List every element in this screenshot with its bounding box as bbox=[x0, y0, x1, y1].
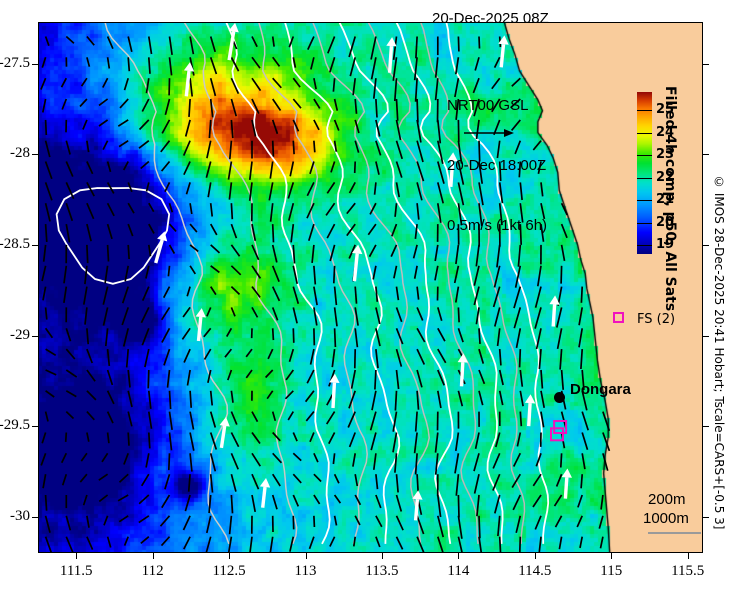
current-vector bbox=[493, 474, 500, 490]
current-vector bbox=[267, 391, 273, 399]
current-vector bbox=[128, 245, 129, 259]
current-vector bbox=[414, 245, 418, 258]
drifter-arrow-head bbox=[196, 308, 206, 317]
colorbar-tick bbox=[637, 155, 652, 156]
current-vector bbox=[149, 412, 152, 429]
current-vector bbox=[376, 328, 380, 346]
current-vector bbox=[42, 266, 46, 281]
velocity-scale-arrow-icon bbox=[462, 125, 522, 141]
y-axis-tick bbox=[32, 154, 38, 155]
current-vector bbox=[162, 328, 170, 342]
current-vector bbox=[326, 203, 335, 215]
current-vector bbox=[103, 141, 108, 150]
current-vector bbox=[231, 245, 239, 256]
current-vector bbox=[579, 328, 582, 347]
current-vector bbox=[477, 495, 479, 516]
current-vector bbox=[64, 287, 66, 303]
x-axis-tick-label: 112.5 bbox=[194, 563, 264, 580]
current-vector bbox=[273, 266, 279, 282]
current-vector bbox=[231, 203, 232, 219]
current-vector bbox=[498, 516, 500, 536]
current-vector bbox=[290, 349, 294, 362]
current-vector bbox=[207, 516, 211, 533]
current-vector bbox=[170, 57, 172, 75]
current-vector bbox=[231, 474, 236, 491]
current-vector bbox=[211, 391, 213, 406]
current-vector bbox=[397, 474, 399, 492]
current-vector bbox=[291, 224, 293, 242]
current-vector bbox=[190, 266, 195, 274]
source-line-3: 0.5m/s (1kt 6h) bbox=[447, 216, 547, 236]
current-vector bbox=[293, 433, 297, 442]
current-vector bbox=[293, 245, 294, 264]
current-vector bbox=[231, 433, 238, 447]
current-vector bbox=[108, 224, 112, 239]
current-vector bbox=[310, 162, 314, 174]
current-vector bbox=[230, 516, 232, 534]
drifter-arrow-shaft bbox=[565, 478, 566, 499]
current-vector bbox=[562, 370, 564, 390]
current-vector bbox=[231, 307, 235, 316]
current-vector bbox=[128, 182, 132, 191]
current-vector bbox=[46, 307, 47, 319]
current-vector bbox=[456, 433, 459, 451]
current-vector bbox=[148, 370, 149, 388]
current-vector bbox=[87, 57, 90, 66]
current-vector bbox=[43, 99, 46, 112]
current-vector bbox=[83, 120, 87, 130]
current-vector bbox=[204, 328, 211, 337]
current-vector bbox=[350, 182, 356, 193]
current-vector bbox=[103, 287, 107, 305]
current-vector bbox=[230, 141, 232, 160]
current-vector bbox=[205, 349, 211, 359]
current-vector bbox=[541, 370, 542, 389]
current-vector bbox=[87, 516, 89, 528]
current-vector bbox=[46, 203, 50, 221]
current-vector bbox=[293, 99, 301, 108]
y-axis-tick-label: -27.5 bbox=[0, 55, 30, 72]
current-vector bbox=[374, 78, 376, 99]
current-vector bbox=[184, 516, 191, 530]
current-vector bbox=[211, 245, 220, 253]
x-axis-tick bbox=[535, 553, 536, 559]
current-vector bbox=[562, 224, 567, 238]
current-vector bbox=[355, 328, 357, 347]
current-vector bbox=[250, 162, 252, 180]
current-vector bbox=[41, 453, 45, 465]
current-vector bbox=[479, 328, 480, 344]
current-vector bbox=[495, 495, 500, 513]
current-vector bbox=[66, 391, 76, 397]
current-vector bbox=[435, 245, 438, 261]
current-vector bbox=[211, 203, 213, 216]
x-axis-tick-label: 115 bbox=[576, 563, 646, 580]
current-vector bbox=[541, 391, 544, 408]
current-vector bbox=[231, 224, 236, 238]
current-vector bbox=[371, 412, 376, 431]
current-vector bbox=[64, 266, 66, 284]
current-vector bbox=[66, 162, 73, 177]
current-vector bbox=[187, 287, 190, 297]
current-vector bbox=[335, 328, 336, 347]
current-vector bbox=[187, 182, 191, 194]
current-vector bbox=[417, 516, 424, 534]
current-vector bbox=[355, 474, 357, 486]
current-vector bbox=[140, 120, 149, 130]
current-vector bbox=[128, 391, 132, 407]
current-vector bbox=[185, 495, 190, 511]
current-vector bbox=[517, 433, 520, 447]
current-vector bbox=[123, 287, 129, 304]
current-vector bbox=[149, 57, 150, 74]
y-axis-tick bbox=[32, 517, 38, 518]
current-vector bbox=[46, 391, 55, 397]
current-vector bbox=[559, 537, 561, 550]
current-vector bbox=[161, 516, 170, 526]
y-axis-tick-right bbox=[703, 517, 709, 518]
current-vector bbox=[335, 495, 341, 503]
current-vector bbox=[62, 78, 67, 87]
current-vector bbox=[520, 370, 522, 387]
current-vector bbox=[417, 203, 419, 219]
drifter-arrow-shaft bbox=[333, 383, 334, 408]
current-vector bbox=[170, 391, 171, 409]
current-vector bbox=[314, 120, 319, 130]
current-vector bbox=[416, 453, 418, 474]
current-vector bbox=[41, 78, 46, 89]
current-vector bbox=[164, 349, 170, 365]
current-vector bbox=[252, 307, 258, 317]
current-vector bbox=[170, 203, 173, 212]
current-vector bbox=[603, 433, 610, 451]
current-vector bbox=[514, 307, 520, 328]
current-vector bbox=[270, 162, 272, 179]
current-vector bbox=[561, 266, 562, 284]
current-vector bbox=[211, 287, 216, 295]
current-vector bbox=[293, 453, 301, 460]
current-vector bbox=[417, 162, 423, 182]
current-vector bbox=[46, 516, 50, 533]
current-vector bbox=[182, 328, 190, 339]
current-vector bbox=[375, 182, 376, 194]
current-vector bbox=[102, 453, 108, 462]
current-vector bbox=[513, 495, 520, 510]
bathymetry-contour bbox=[259, 22, 368, 544]
current-vector bbox=[435, 266, 438, 281]
current-vector bbox=[162, 495, 170, 508]
y-axis-tick-right bbox=[703, 336, 709, 337]
current-vector bbox=[124, 328, 129, 346]
current-vector bbox=[348, 412, 355, 428]
current-vector bbox=[252, 412, 258, 422]
current-vector bbox=[149, 391, 151, 409]
current-vector bbox=[87, 224, 91, 241]
current-vector bbox=[375, 370, 376, 390]
current-vector bbox=[82, 78, 87, 86]
current-vector bbox=[327, 412, 335, 425]
current-vector bbox=[125, 78, 129, 90]
x-axis-tick-label: 114 bbox=[423, 563, 493, 580]
current-vector bbox=[208, 182, 211, 197]
current-vector bbox=[293, 287, 298, 304]
current-vector bbox=[417, 391, 418, 410]
current-vector bbox=[170, 412, 173, 430]
current-vector bbox=[80, 99, 87, 107]
current-vector bbox=[561, 453, 562, 467]
current-vector bbox=[397, 370, 399, 389]
current-vector bbox=[206, 537, 210, 553]
current-vector bbox=[229, 162, 232, 180]
current-vector bbox=[211, 78, 216, 96]
y-axis-tick bbox=[32, 245, 38, 246]
current-vector bbox=[162, 120, 169, 133]
current-vector bbox=[128, 412, 132, 427]
current-vector bbox=[335, 307, 337, 326]
current-vector bbox=[189, 99, 190, 117]
current-vector bbox=[124, 453, 128, 464]
current-vector bbox=[108, 433, 109, 444]
y-axis-tick-right bbox=[703, 64, 709, 65]
current-vector bbox=[493, 453, 500, 468]
y-axis-tick-label: -28 bbox=[0, 145, 30, 162]
current-vector bbox=[582, 453, 585, 469]
current-vector bbox=[438, 537, 445, 553]
y-axis-tick bbox=[32, 426, 38, 427]
current-vector bbox=[190, 203, 192, 214]
current-vector bbox=[84, 495, 87, 505]
current-vector bbox=[353, 453, 355, 466]
current-vector bbox=[557, 474, 562, 486]
bathymetry-contour bbox=[285, 22, 399, 544]
current-vector bbox=[273, 474, 281, 486]
current-vector bbox=[127, 349, 129, 367]
drifter-arrow-head bbox=[458, 353, 468, 362]
current-vector bbox=[293, 495, 298, 506]
current-vector bbox=[520, 391, 523, 406]
current-vector bbox=[62, 453, 67, 463]
current-vector bbox=[87, 245, 88, 263]
current-vector bbox=[293, 141, 294, 155]
current-vector bbox=[393, 433, 397, 453]
current-vector bbox=[46, 370, 57, 375]
current-vector bbox=[557, 307, 562, 327]
current-vector bbox=[46, 349, 56, 355]
x-axis-tick bbox=[153, 553, 154, 559]
current-vector bbox=[500, 349, 501, 365]
current-vector bbox=[333, 453, 334, 464]
current-vector bbox=[164, 287, 170, 298]
colorbar-title: Filled 4h comp, p50, All Sats bbox=[662, 86, 678, 311]
current-vector bbox=[46, 328, 53, 337]
current-vector bbox=[601, 495, 603, 510]
y-axis-tick-label: -30 bbox=[0, 508, 30, 525]
current-vector bbox=[108, 412, 113, 424]
current-vector bbox=[170, 433, 172, 451]
current-vector bbox=[184, 162, 190, 175]
current-vector bbox=[118, 495, 128, 501]
source-line-2: 20-Dec 18:00Z bbox=[447, 156, 547, 176]
current-vector bbox=[141, 307, 148, 322]
current-vector bbox=[206, 162, 210, 178]
current-vector bbox=[288, 412, 293, 420]
current-vector bbox=[87, 412, 94, 420]
map-plot-area[interactable] bbox=[38, 22, 703, 553]
current-vector bbox=[63, 474, 67, 485]
current-vector bbox=[416, 412, 417, 432]
current-vector bbox=[46, 537, 52, 553]
current-vector bbox=[273, 495, 277, 509]
current-vector bbox=[165, 182, 170, 191]
current-vector bbox=[394, 37, 397, 60]
current-vector bbox=[211, 266, 220, 273]
current-vector bbox=[269, 182, 272, 200]
current-vector bbox=[227, 328, 232, 336]
current-vector bbox=[579, 307, 582, 325]
current-vector bbox=[370, 245, 376, 257]
current-vector bbox=[106, 328, 108, 346]
current-vector bbox=[120, 99, 128, 108]
drifter-arrow-shaft bbox=[416, 499, 418, 520]
current-vector bbox=[190, 78, 192, 96]
date-stamp: 20-Dec-2025 08Z bbox=[432, 10, 549, 27]
current-vector bbox=[165, 99, 169, 115]
current-vector bbox=[520, 412, 521, 427]
current-vector bbox=[438, 349, 446, 363]
current-vector bbox=[184, 537, 190, 549]
current-vector bbox=[211, 37, 216, 52]
current-vector bbox=[146, 453, 149, 467]
current-vector bbox=[372, 57, 376, 79]
current-vector bbox=[252, 453, 260, 466]
drifter-arrow-head bbox=[562, 469, 572, 478]
current-vector bbox=[352, 370, 356, 389]
current-vector bbox=[479, 349, 483, 364]
current-vector bbox=[310, 537, 314, 549]
current-vector bbox=[560, 349, 562, 370]
current-vector bbox=[246, 349, 252, 357]
current-vector bbox=[514, 287, 520, 309]
current-vector bbox=[307, 203, 314, 218]
current-vector bbox=[368, 224, 376, 235]
current-vector bbox=[87, 391, 96, 400]
current-vector bbox=[162, 307, 170, 319]
current-vector bbox=[149, 203, 154, 212]
current-vector bbox=[207, 141, 211, 159]
current-vector bbox=[66, 37, 74, 44]
current-vector bbox=[333, 78, 334, 92]
current-vector bbox=[494, 287, 500, 307]
current-vector bbox=[108, 203, 115, 216]
x-axis-tick bbox=[382, 553, 383, 559]
current-vector bbox=[42, 57, 45, 67]
current-vector bbox=[149, 37, 152, 55]
current-vector bbox=[105, 266, 108, 284]
current-vector bbox=[479, 391, 483, 405]
current-vector bbox=[42, 433, 45, 444]
current-vector bbox=[314, 266, 315, 285]
current-vector bbox=[562, 245, 565, 261]
current-vector bbox=[355, 162, 356, 174]
current-vector bbox=[128, 37, 132, 52]
current-vector bbox=[128, 203, 134, 213]
current-vector bbox=[517, 328, 521, 348]
current-vector bbox=[475, 474, 479, 493]
current-vector bbox=[228, 537, 231, 553]
current-vector bbox=[103, 78, 108, 87]
current-vector bbox=[415, 433, 418, 454]
current-vector bbox=[438, 182, 443, 203]
x-axis-tick-label: 115.5 bbox=[653, 563, 723, 580]
current-vector bbox=[354, 537, 355, 547]
current-vector bbox=[376, 99, 377, 118]
current-vector bbox=[314, 453, 318, 462]
current-vector bbox=[417, 370, 422, 387]
current-vector bbox=[84, 287, 87, 305]
current-vector bbox=[190, 37, 193, 55]
current-vector bbox=[536, 287, 541, 308]
current-vector bbox=[455, 453, 458, 473]
drifter-arrow-head bbox=[229, 23, 239, 33]
current-vector bbox=[170, 224, 177, 231]
current-vector bbox=[108, 57, 110, 68]
current-vector bbox=[211, 224, 217, 235]
map-overlay bbox=[38, 22, 703, 553]
current-vector bbox=[142, 474, 149, 486]
current-vector bbox=[581, 349, 582, 369]
current-vector bbox=[99, 495, 107, 501]
current-vector bbox=[514, 453, 521, 466]
current-vector bbox=[66, 537, 73, 553]
current-vector bbox=[170, 245, 175, 254]
x-axis-tick-label: 112 bbox=[118, 563, 188, 580]
current-vector bbox=[145, 349, 149, 367]
eddy-contour bbox=[57, 188, 170, 284]
current-vector bbox=[290, 162, 293, 177]
current-vector bbox=[314, 78, 316, 89]
current-vector bbox=[397, 349, 402, 367]
current-vector bbox=[306, 391, 314, 402]
current-vector bbox=[124, 162, 129, 171]
current-vector bbox=[108, 370, 113, 385]
current-vector bbox=[99, 99, 108, 105]
current-vector bbox=[87, 328, 88, 344]
current-vector bbox=[334, 266, 335, 284]
current-vector bbox=[211, 474, 213, 492]
current-vector bbox=[436, 57, 438, 77]
current-vector bbox=[273, 224, 274, 242]
current-vector bbox=[66, 516, 70, 531]
current-vector bbox=[293, 474, 301, 483]
current-vector bbox=[141, 537, 149, 544]
drifter-arrow-shaft bbox=[186, 71, 189, 96]
current-vector bbox=[46, 224, 47, 242]
current-vector bbox=[535, 516, 541, 530]
current-vector bbox=[371, 37, 376, 60]
current-vector bbox=[46, 141, 50, 157]
current-vector bbox=[350, 57, 355, 76]
current-vector bbox=[225, 349, 231, 357]
x-axis-tick bbox=[76, 553, 77, 559]
current-vector bbox=[417, 141, 423, 162]
current-vector bbox=[458, 37, 459, 52]
bathymetry-contour bbox=[184, 22, 297, 544]
current-vector bbox=[376, 349, 378, 368]
y-axis-tick-label: -29 bbox=[0, 327, 30, 344]
current-vector bbox=[306, 412, 314, 421]
current-vector bbox=[85, 307, 87, 324]
current-vector bbox=[128, 433, 129, 446]
